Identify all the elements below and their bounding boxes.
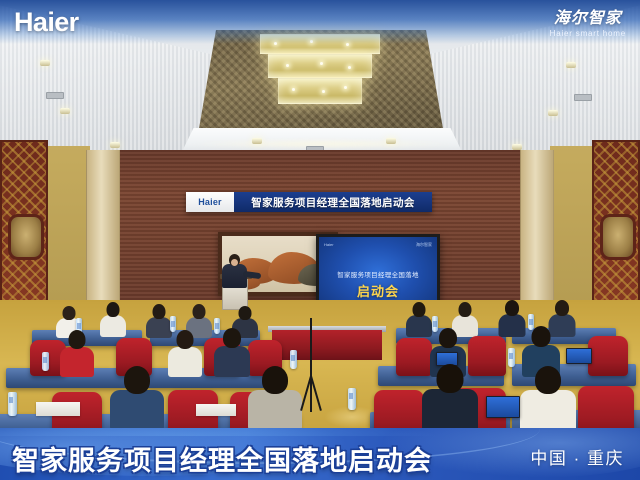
downlight — [40, 60, 50, 66]
event-location: 中国 · 重庆 — [530, 444, 624, 469]
column-right — [520, 150, 554, 325]
lattice-medallion — [8, 214, 44, 260]
chandelier-tier-mid — [268, 54, 372, 78]
haier-smart-home-lockup: 海尔智家 Haier smart home — [550, 4, 626, 38]
slide-subtitle: 智家服务项目经理全国落地 — [319, 269, 437, 279]
conference-photo: Haier 智家服务项目经理全国落地启动会 Haier 海尔智家 智家服务项目经… — [0, 0, 640, 480]
tripod-leg — [310, 376, 312, 412]
attendee — [520, 366, 576, 428]
stage-banner-logo: Haier — [186, 192, 234, 212]
brand-name-en: Haier smart home — [550, 29, 626, 38]
downlight — [548, 110, 558, 116]
chair — [588, 336, 628, 376]
attendee — [60, 330, 94, 376]
slide-title: 启动会 — [319, 281, 437, 300]
chandelier — [252, 34, 388, 114]
air-vent — [46, 92, 64, 99]
attendee — [214, 328, 250, 376]
air-vent — [574, 94, 592, 101]
lattice-medallion — [600, 214, 636, 260]
attendee — [100, 302, 126, 336]
water-bottle — [42, 352, 49, 371]
bottom-banner: 智家服务项目经理全国落地启动会 中国 · 重庆 — [0, 428, 640, 480]
brand-name-cn: 海尔智家 — [550, 4, 626, 28]
water-bottle — [508, 348, 515, 367]
event-title: 智家服务项目经理全国落地启动会 — [12, 439, 432, 478]
water-bottle — [348, 388, 356, 410]
tripod-pole — [310, 318, 312, 380]
stage-banner: Haier 智家服务项目经理全国落地启动会 — [186, 192, 432, 212]
laptop — [486, 396, 520, 418]
document-paper — [36, 402, 80, 416]
attendee — [248, 366, 302, 428]
water-bottle — [8, 392, 17, 416]
document-paper — [196, 404, 236, 416]
chandelier-tier-bottom — [278, 78, 362, 104]
attendee — [498, 300, 525, 336]
attendee — [422, 364, 478, 428]
stage-banner-title: 智家服务项目经理全国落地启动会 — [234, 192, 432, 212]
speaker-face — [231, 259, 238, 266]
column-left — [86, 150, 120, 325]
slide-logo-right: 海尔智家 — [416, 242, 432, 248]
haier-logo: Haier — [14, 7, 79, 38]
downlight — [386, 138, 396, 144]
head-table-skirt — [272, 330, 382, 360]
attendee — [110, 366, 164, 428]
camera-tripod — [296, 318, 326, 410]
downlight — [566, 62, 576, 68]
attendee — [168, 330, 202, 376]
attendee — [406, 302, 432, 336]
top-overlay-bar: Haier 海尔智家 Haier smart home — [0, 0, 640, 44]
laptop — [566, 348, 592, 364]
downlight — [110, 142, 120, 148]
downlight — [252, 138, 262, 144]
slide-logo-left: Haier — [324, 242, 334, 247]
downlight — [60, 108, 70, 114]
